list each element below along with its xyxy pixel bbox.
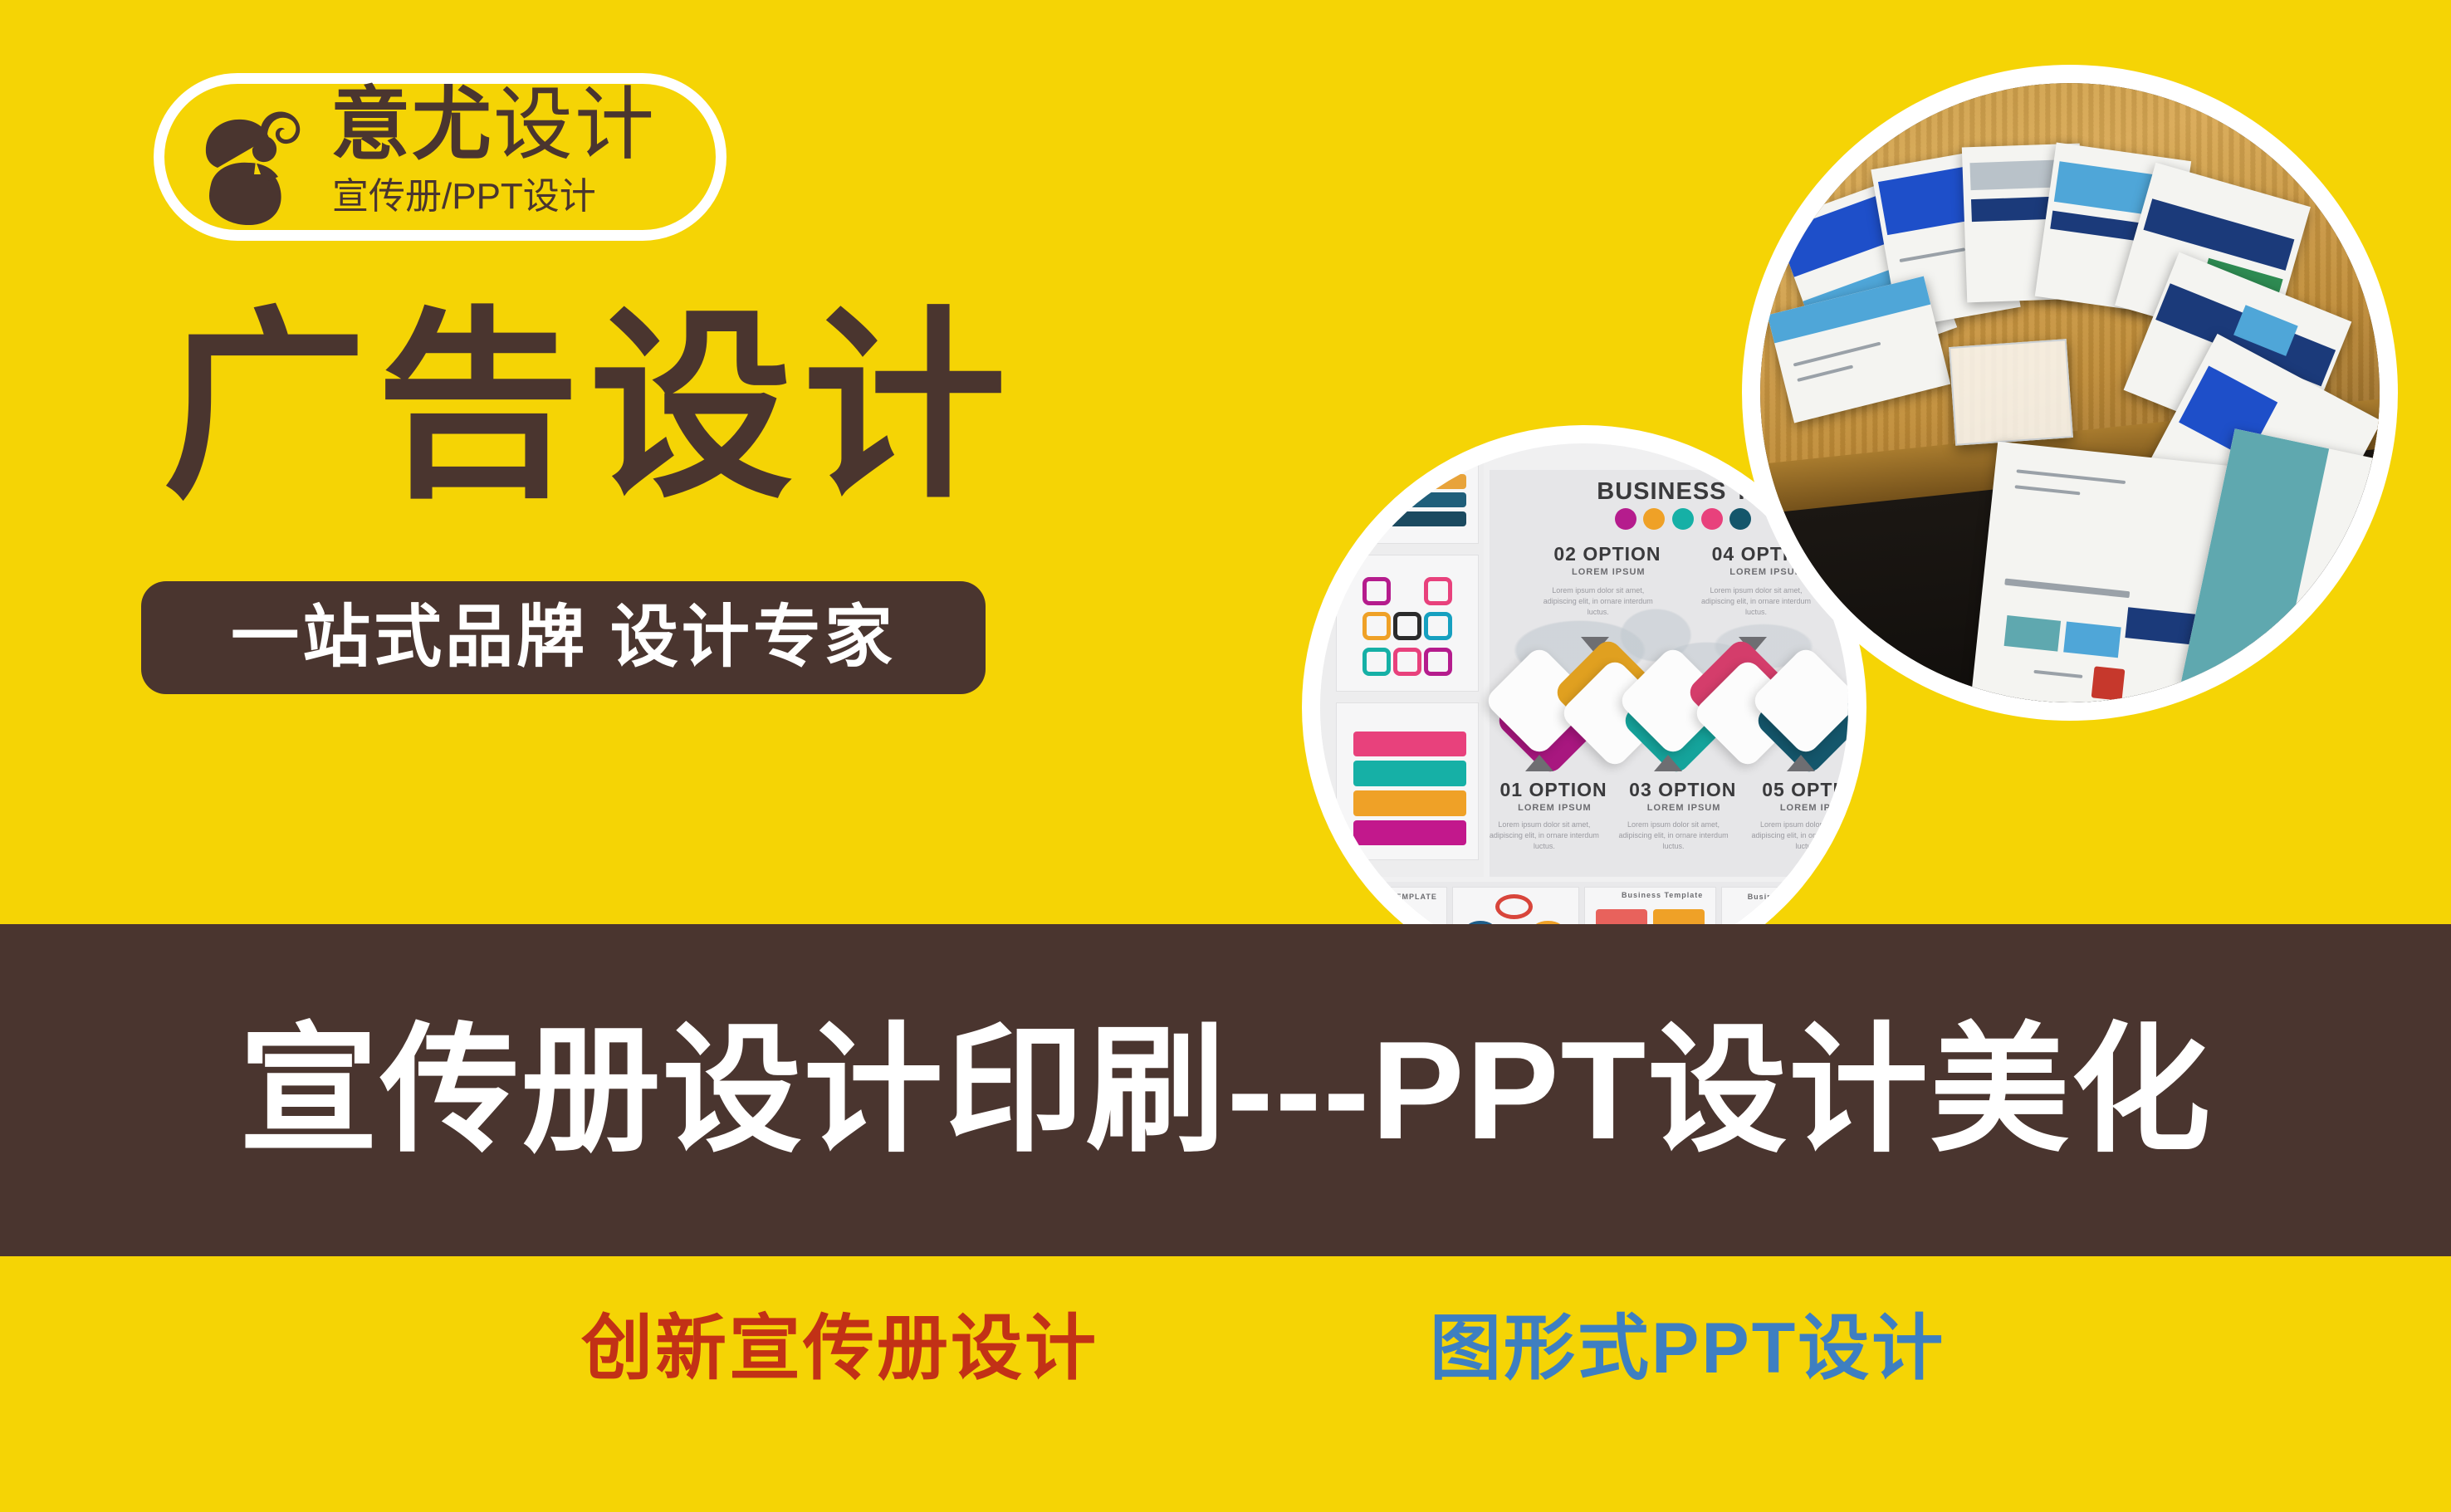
logo-name-thin: 设计 bbox=[493, 81, 656, 169]
ppt-tile-3-label: 06 bbox=[1766, 911, 1781, 924]
ppt-option-03-body: Lorem ipsum dolor sit amet, adipiscing e… bbox=[1612, 820, 1736, 852]
ppt-option-02-sub: LOREM IPSUM bbox=[1572, 567, 1646, 577]
ppt-option-05-body: Lorem ipsum dolor sit amet, adipiscing e… bbox=[1744, 820, 1848, 852]
footer-item-brochure-design: 创新宣传册设计 bbox=[581, 1309, 1098, 1387]
ppt-option-02-body: Lorem ipsum dolor sit amet, adipiscing e… bbox=[1536, 585, 1661, 618]
logo-name: 意尤设计 bbox=[330, 82, 656, 169]
logo-text-block: 意尤设计 宣传册/PPT设计 bbox=[330, 87, 721, 245]
logo-name-bold: 意尤 bbox=[330, 81, 493, 169]
page-title: 广告设计 bbox=[163, 295, 1016, 519]
brand-logo-badge: 意尤设计 宣传册/PPT设计 bbox=[154, 73, 726, 241]
subtitle-banner: 宣传册设计印刷---PPT设计美化 bbox=[0, 924, 2451, 1256]
subtitle-banner-text: 宣传册设计印刷---PPT设计美化 bbox=[239, 1017, 2213, 1163]
logo-subtitle: 宣传册/PPT设计 bbox=[332, 175, 596, 218]
ppt-tile-1-title: BUSINESS TEMPLATE bbox=[1343, 893, 1437, 901]
brochure-photo-image bbox=[1760, 83, 2380, 702]
brochure-photo-circle bbox=[1742, 65, 2398, 721]
ppt-tile-2-title: Business Template bbox=[1622, 891, 1703, 899]
ppt-option-01-body: Lorem ipsum dolor sit amet, adipiscing e… bbox=[1482, 820, 1607, 852]
ppt-option-05-sub: LOREM IPSUM bbox=[1780, 803, 1848, 813]
footer-item-ppt-design: 图形式PPT设计 bbox=[1430, 1309, 1945, 1387]
ppt-tile-3-title: Business bbox=[1748, 893, 1788, 901]
bean-sprout-logo-icon bbox=[163, 81, 325, 244]
ppt-option-03: 03 OPTION bbox=[1629, 779, 1736, 801]
ppt-option-03-sub: LOREM IPSUM bbox=[1647, 803, 1721, 813]
footer-service-row: 创新宣传册设计 图形式PPT设计 bbox=[0, 1256, 2451, 1512]
advertising-design-banner: 意尤设计 宣传册/PPT设计 广告设计 一站式品牌 设计专家 bbox=[0, 0, 2451, 1512]
ppt-option-01: 01 OPTION bbox=[1499, 779, 1607, 801]
tagline-text: 一站式品牌 设计专家 bbox=[231, 602, 896, 673]
tagline-badge: 一站式品牌 设计专家 bbox=[141, 581, 986, 694]
ppt-option-01-sub: LOREM IPSUM bbox=[1518, 803, 1592, 813]
ppt-option-02: 02 OPTION bbox=[1553, 543, 1661, 565]
ppt-option-05: 05 OPTION bbox=[1762, 779, 1848, 801]
